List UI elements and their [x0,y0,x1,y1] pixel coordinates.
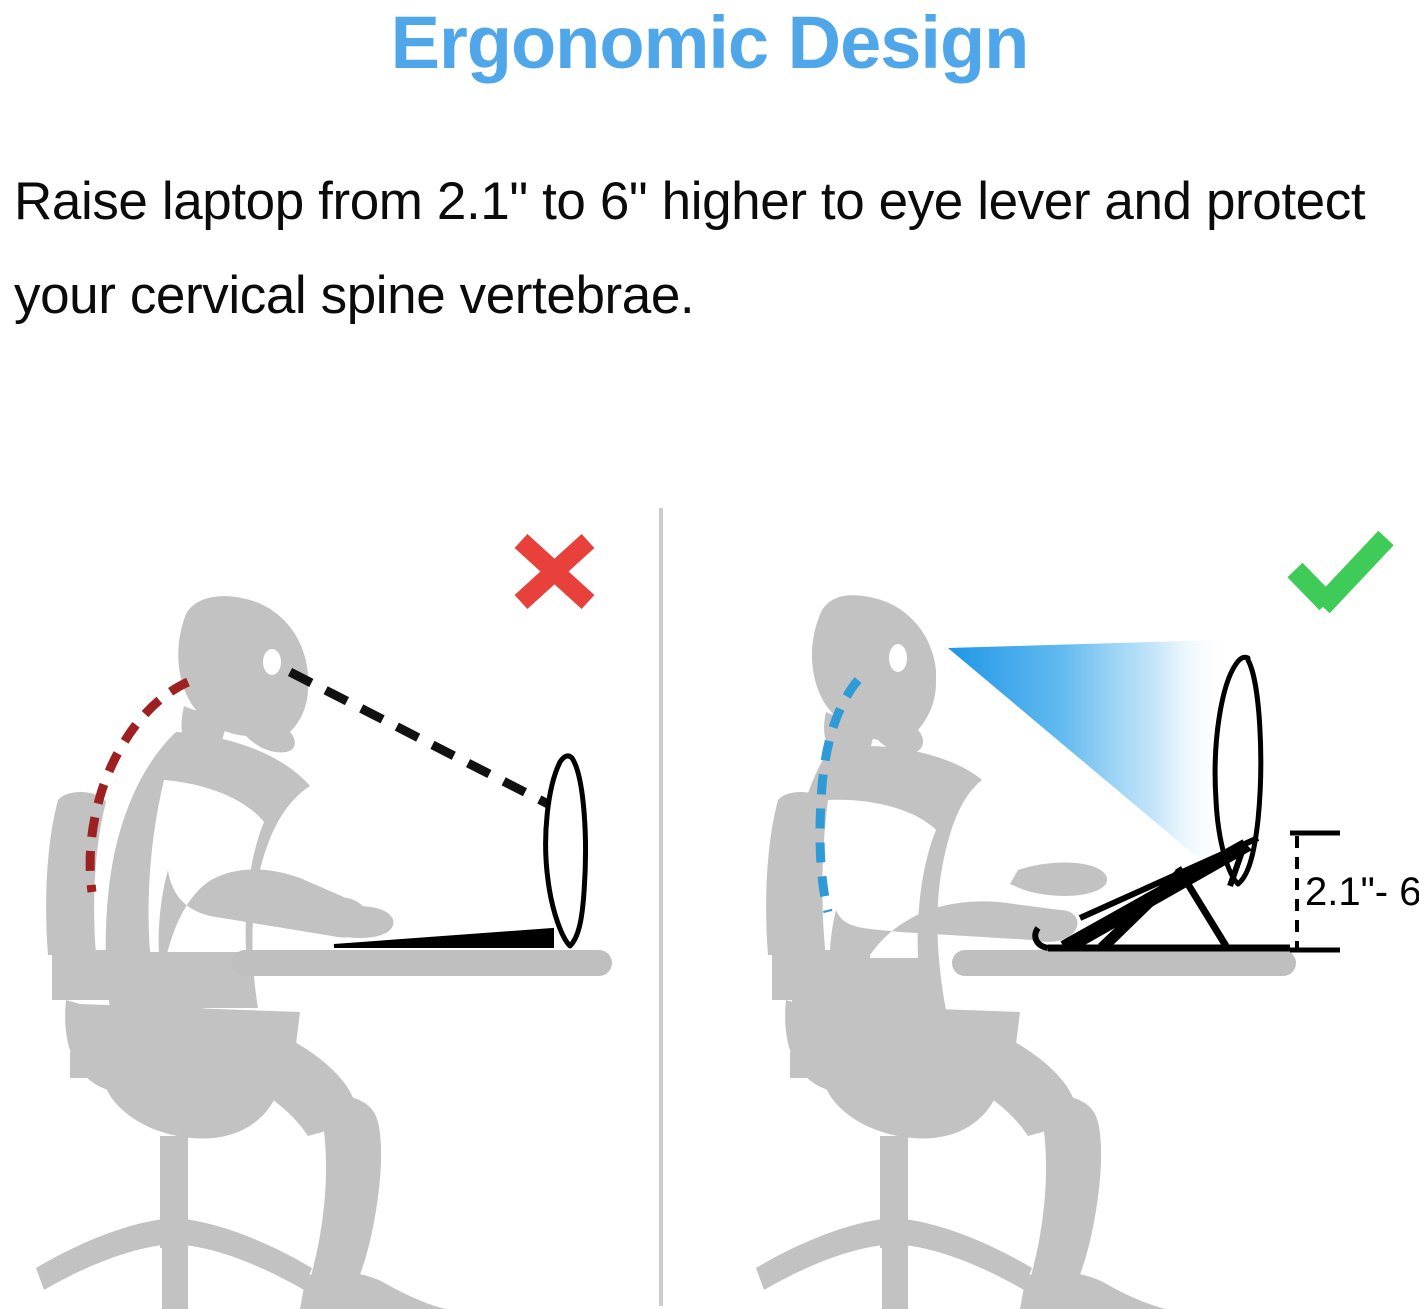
dimension-label: 2.1"- 6" [1305,870,1419,914]
figure-foot-left [300,1272,446,1309]
sight-line-incorrect [290,672,548,804]
height-dimension: 2.1"- 6" [1290,833,1419,950]
cross-icon [521,541,588,602]
infographic-page: Ergonomic Design Raise laptop from 2.1" … [0,0,1419,1309]
vision-cone [948,640,1222,878]
desk-right [952,950,1296,976]
figure-foot-right [1020,1272,1166,1309]
left-panel-group [36,541,612,1309]
figure-torso-right [786,746,982,1010]
ergonomics-illustration: 2.1"- 6" [0,0,1419,1309]
eye-left [263,649,281,675]
desk-left [232,950,612,976]
figure-hand-right [1010,863,1107,896]
check-icon [1295,538,1386,606]
right-panel-group: 2.1"- 6" [756,538,1419,1309]
eye-right [889,644,907,672]
